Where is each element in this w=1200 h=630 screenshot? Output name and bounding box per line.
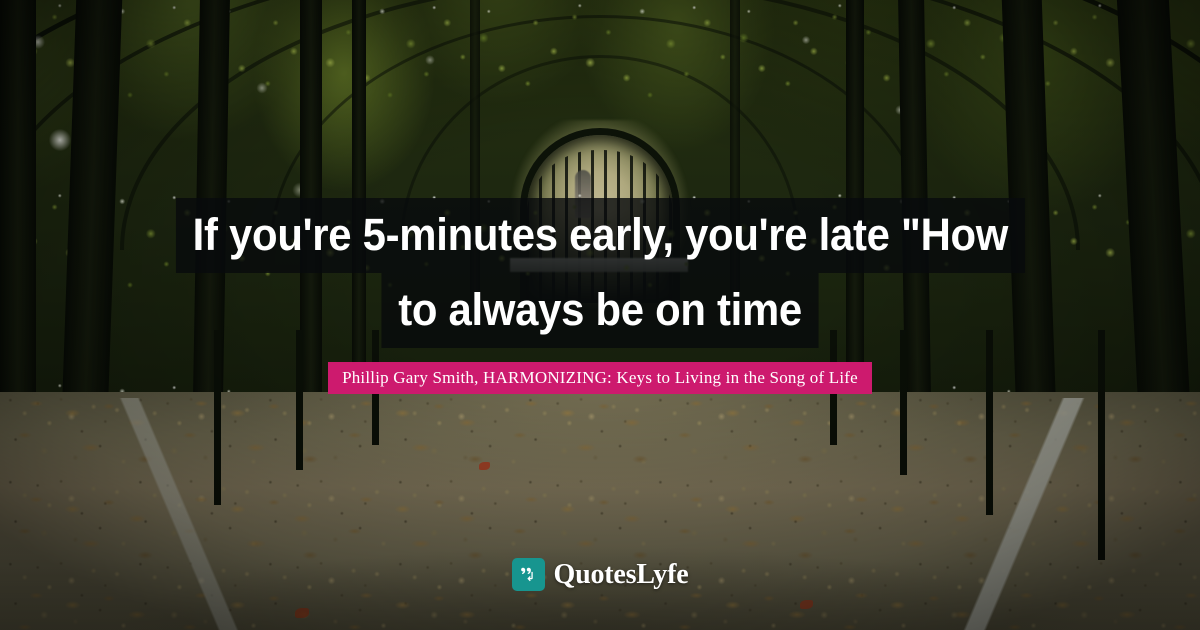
quote-text: If you're 5-minutes early, you're late "… <box>0 198 1200 348</box>
metal-post <box>214 330 221 505</box>
metal-post <box>296 330 303 470</box>
quote-line-1: If you're 5-minutes early, you're late "… <box>176 198 1025 273</box>
logo-wordmark: QuotesLyfe <box>554 561 689 589</box>
brand-logo[interactable]: QuotesLyfe <box>0 558 1200 591</box>
quote-line-2: to always be on time <box>381 273 818 348</box>
red-leaf <box>479 462 490 470</box>
attribution-wrapper: Phillip Gary Smith, HARMONIZING: Keys to… <box>0 362 1200 394</box>
attribution-banner: Phillip Gary Smith, HARMONIZING: Keys to… <box>328 362 872 394</box>
metal-post <box>900 330 907 475</box>
red-leaf <box>800 600 813 609</box>
quote-mark-icon <box>512 558 545 591</box>
metal-post <box>986 330 993 515</box>
quote-card: If you're 5-minutes early, you're late "… <box>0 0 1200 630</box>
red-leaf <box>295 608 309 618</box>
